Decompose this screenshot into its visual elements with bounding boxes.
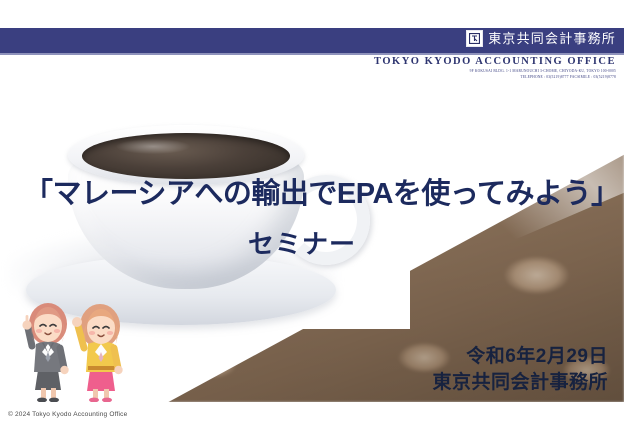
event-date: 令和6年2月29日	[432, 344, 608, 370]
brand-address-line-2: TELEPHONE : 03(5219)8777 FACSIMILE : 03(…	[374, 75, 616, 80]
brand-name-jp: 東京共同会計事務所	[488, 31, 616, 46]
slide-title: 「マレーシアへの輸出でEPAを使ってみよう」	[24, 170, 619, 212]
company-square-logo-icon	[466, 30, 483, 47]
organization-name: 東京共同会計事務所	[432, 370, 608, 396]
slide-subtitle: セミナー	[248, 224, 356, 261]
brand-group: 東京共同会計事務所	[466, 30, 616, 47]
brand-address-line-1: 9F KOKUSAI BLDG. 1-1 MARUNOUCHI 3-CHOME,…	[374, 69, 616, 74]
woman-yellow-cardigan-pink-skirt-cheering-illustration	[72, 304, 123, 402]
copyright-text: © 2024 Tokyo Kyodo Accounting Office	[8, 411, 127, 418]
businesswoman-gray-suit-pointing-up-illustration	[22, 303, 68, 402]
brand-english-block: TOKYO KYODO ACCOUNTING OFFICE 9F KOKUSAI…	[374, 56, 616, 80]
presentation-slide: 東京共同会計事務所 TOKYO KYODO ACCOUNTING OFFICE …	[0, 0, 624, 432]
header-band-underline	[0, 53, 624, 55]
coffee-highlight	[116, 139, 190, 154]
character-illustrations	[8, 296, 138, 402]
date-and-organization-block: 令和6年2月29日 東京共同会計事務所	[432, 344, 608, 396]
brand-name-en: TOKYO KYODO ACCOUNTING OFFICE	[374, 56, 616, 68]
